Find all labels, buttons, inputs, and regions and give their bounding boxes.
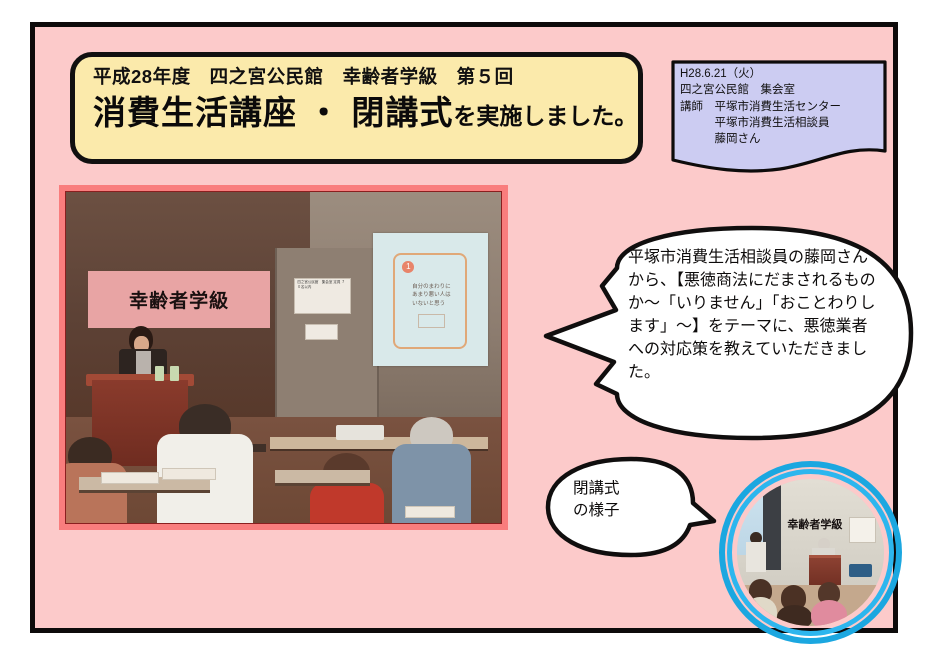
- main-photo-frame: 幸齢者学級 四之宮公民館 集会室 定員 ７０名以内 1 自分のまわりに あまり悪…: [59, 185, 508, 530]
- circle-photo: 幸齢者学級: [737, 479, 884, 626]
- slide-rounded-box: 1 自分のまわりに あまり悪い人は いないと思う: [393, 253, 467, 348]
- photo-door-sign-small: [305, 324, 337, 339]
- photo-paper: [162, 468, 216, 480]
- photo-banner: 幸齢者学級: [88, 271, 271, 327]
- circle-photo-left-person-body: [746, 542, 767, 571]
- main-photo: 幸齢者学級 四之宮公民館 集会室 定員 ７０名以内 1 自分のまわりに あまり悪…: [65, 191, 502, 524]
- title-heading: 消費生活講座 ・ 閉講式を実施しました。: [93, 96, 638, 131]
- photo-bottle: [170, 366, 179, 381]
- circle-photo-audience-body: [744, 597, 776, 626]
- photo-paper: [405, 506, 455, 518]
- slide-text: 自分のまわりに あまり悪い人は いないと思う: [412, 283, 451, 309]
- info-note-text: H28.6.21（火） 四之宮公民館 集会室 講師 平塚市消費生活センター 平塚…: [680, 66, 885, 148]
- circle-photo-banner-label: 幸齢者学級: [787, 516, 842, 532]
- info-note: H28.6.21（火） 四之宮公民館 集会室 講師 平塚市消費生活センター 平塚…: [670, 59, 888, 176]
- photo-audience-body: [310, 483, 384, 524]
- circle-photo-banner: 幸齢者学級: [787, 514, 843, 533]
- circle-photo-sign: [849, 517, 876, 543]
- photo-bottle: [155, 366, 164, 381]
- title-box: 平成28年度 四之宮公民館 幸齢者学級 第５回 消費生活講座 ・ 閉講式を実施し…: [70, 52, 643, 164]
- title-heading-main: 消費生活講座 ・ 閉講式: [93, 94, 453, 131]
- small-speech-bubble: 閉講式 の様子: [543, 455, 723, 565]
- photo-banner-label: 幸齢者学級: [129, 286, 229, 313]
- circle-photo-container: 幸齢者学級: [719, 461, 902, 644]
- main-bubble-text: 平塚市消費生活相談員の藤岡さんから、【悪徳商法にだまされるものか～「いりません」…: [628, 246, 880, 384]
- photo-door-sign: 四之宮公民館 集会室 定員 ７０名以内: [294, 278, 351, 314]
- slide-answer-box: [418, 314, 445, 328]
- poster-page: 平成28年度 四之宮公民館 幸齢者学級 第５回 消費生活講座 ・ 閉講式を実施し…: [0, 0, 935, 661]
- photo-projector: [336, 425, 384, 440]
- main-speech-bubble: 平塚市消費生活相談員の藤岡さんから、【悪徳商法にだまされるものか～「いりません」…: [540, 224, 915, 442]
- title-subtitle: 平成28年度 四之宮公民館 幸齢者学級 第５回: [93, 66, 638, 88]
- photo-projection-screen: 1 自分のまわりに あまり悪い人は いないと思う: [373, 233, 488, 365]
- photo-desk-right: [275, 470, 371, 486]
- pink-board-background: 平成28年度 四之宮公民館 幸齢者学級 第５回 消費生活講座 ・ 閉講式を実施し…: [30, 22, 898, 633]
- photo-paper: [101, 472, 160, 484]
- slide-number-badge: 1: [402, 261, 414, 273]
- circle-photo-audience-body: [777, 605, 812, 626]
- circle-photo-chair: [849, 564, 873, 577]
- circle-photo-audience-body: [811, 600, 848, 626]
- title-heading-suffix: を実施しました。: [453, 103, 637, 129]
- small-bubble-text: 閉講式 の様子: [573, 478, 693, 523]
